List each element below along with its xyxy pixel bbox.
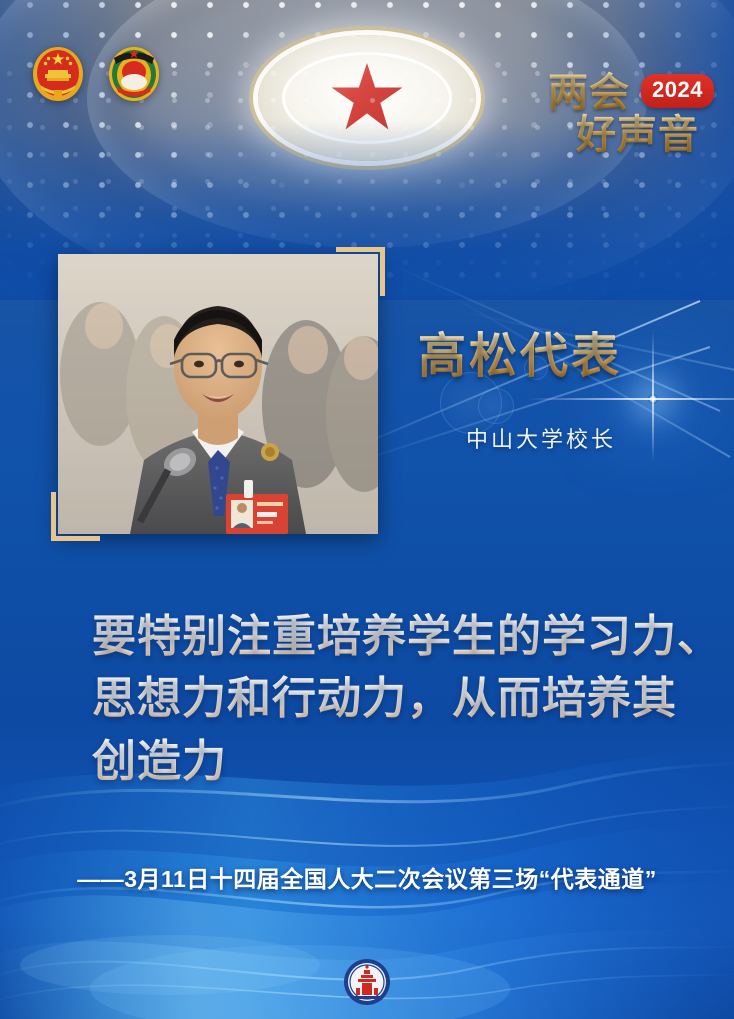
speaker-photo-frame bbox=[58, 254, 378, 534]
program-brand-logo: 两会 2024 好声音 bbox=[548, 60, 708, 150]
quote-line: 要特别注重培养学生的学习力、 bbox=[92, 606, 692, 668]
quote-block: 要特别注重培养学生的学习力、 思想力和行动力，从而培养其 创造力 bbox=[92, 606, 692, 793]
footer-caption-row: ——3月11日十四届全国人大二次会议第三场“代表通道” bbox=[0, 860, 734, 894]
emblem-group bbox=[30, 44, 162, 104]
photo-corner-top-right bbox=[336, 247, 385, 296]
gold-divider-line bbox=[398, 396, 718, 399]
speaker-role: 中山大学校长 bbox=[466, 422, 616, 454]
photo-corner-bottom-left bbox=[51, 492, 100, 541]
cppcc-emblem-icon bbox=[106, 44, 162, 104]
quote-line: 思想力和行动力，从而培养其 bbox=[92, 668, 692, 730]
quote-line: 创造力 bbox=[92, 731, 692, 793]
poster-root: 两会 2024 好声音 bbox=[0, 0, 734, 1019]
lens-orb bbox=[478, 388, 514, 424]
speaker-photo bbox=[58, 254, 378, 534]
media-seal-logo bbox=[343, 958, 391, 1006]
brand-line-2: 好声音 bbox=[576, 102, 699, 160]
footer-caption: ——3月11日十四届全国人大二次会议第三场“代表通道” bbox=[77, 860, 657, 894]
national-emblem-of-china-icon bbox=[30, 44, 86, 104]
speaker-name: 高松代表 bbox=[418, 316, 622, 386]
